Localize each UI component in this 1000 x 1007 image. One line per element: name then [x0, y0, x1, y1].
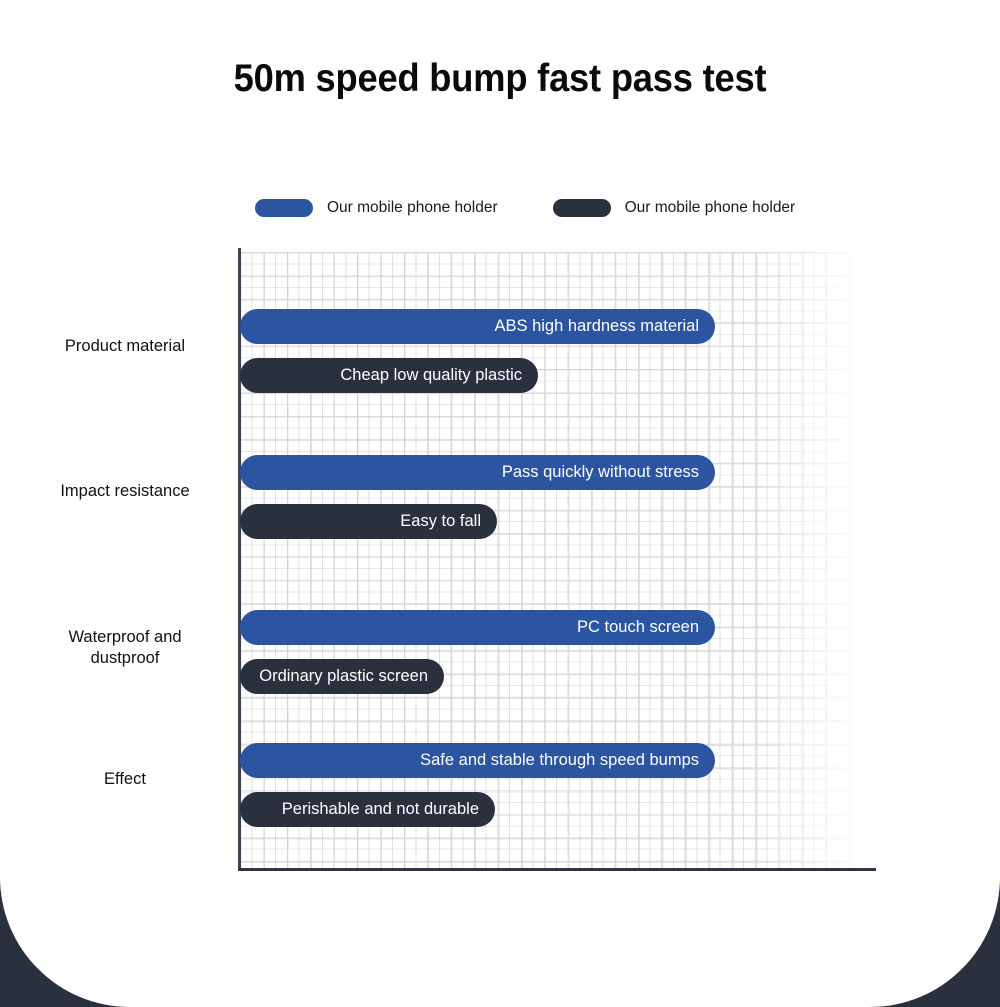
category-label-line: dustproof	[25, 648, 225, 669]
category-label-line: Product material	[25, 336, 225, 357]
legend-swatch-dark-icon	[553, 199, 611, 217]
category-label-impact-resistance: Impact resistance	[25, 481, 225, 502]
bar-blue-waterproof-and-dustproof[interactable]: PC touch screen	[240, 610, 715, 645]
category-label-line: Impact resistance	[25, 481, 225, 502]
bar-dark-product-material[interactable]: Cheap low quality plastic	[240, 358, 538, 393]
bar-value-label: Safe and stable through speed bumps	[420, 751, 699, 770]
legend-item-ours[interactable]: Our mobile phone holder	[255, 199, 498, 217]
bar-value-label: Easy to fall	[400, 512, 481, 531]
plot-area: ABS high hardness material Cheap low qua…	[240, 252, 875, 868]
bar-value-label: ABS high hardness material	[494, 317, 699, 336]
bar-value-label: Ordinary plastic screen	[259, 667, 428, 686]
category-label-waterproof-and-dustproof: Waterproof and dustproof	[25, 627, 225, 669]
legend-label-ours: Our mobile phone holder	[327, 199, 498, 217]
bar-value-label: PC touch screen	[577, 618, 699, 637]
bar-dark-waterproof-and-dustproof[interactable]: Ordinary plastic screen	[240, 659, 444, 694]
bar-dark-effect[interactable]: Perishable and not durable	[240, 792, 495, 827]
category-label-line: Effect	[25, 769, 225, 790]
chart-canvas: 50m speed bump fast pass test Our mobile…	[0, 0, 1000, 1007]
y-axis-line	[238, 248, 241, 868]
category-label-effect: Effect	[25, 769, 225, 790]
legend-label-other: Our mobile phone holder	[625, 199, 796, 217]
category-label-product-material: Product material	[25, 336, 225, 357]
legend-item-other[interactable]: Our mobile phone holder	[553, 199, 796, 217]
page-title: 50m speed bump fast pass test	[35, 57, 965, 101]
chart-legend: Our mobile phone holder Our mobile phone…	[255, 199, 795, 217]
bar-value-label: Cheap low quality plastic	[340, 366, 522, 385]
legend-swatch-blue-icon	[255, 199, 313, 217]
bar-dark-impact-resistance[interactable]: Easy to fall	[240, 504, 497, 539]
bar-blue-impact-resistance[interactable]: Pass quickly without stress	[240, 455, 715, 490]
bar-value-label: Pass quickly without stress	[502, 463, 699, 482]
x-axis-line	[238, 868, 876, 871]
bar-blue-product-material[interactable]: ABS high hardness material	[240, 309, 715, 344]
bar-value-label: Perishable and not durable	[282, 800, 479, 819]
bar-blue-effect[interactable]: Safe and stable through speed bumps	[240, 743, 715, 778]
category-label-line: Waterproof and	[25, 627, 225, 648]
